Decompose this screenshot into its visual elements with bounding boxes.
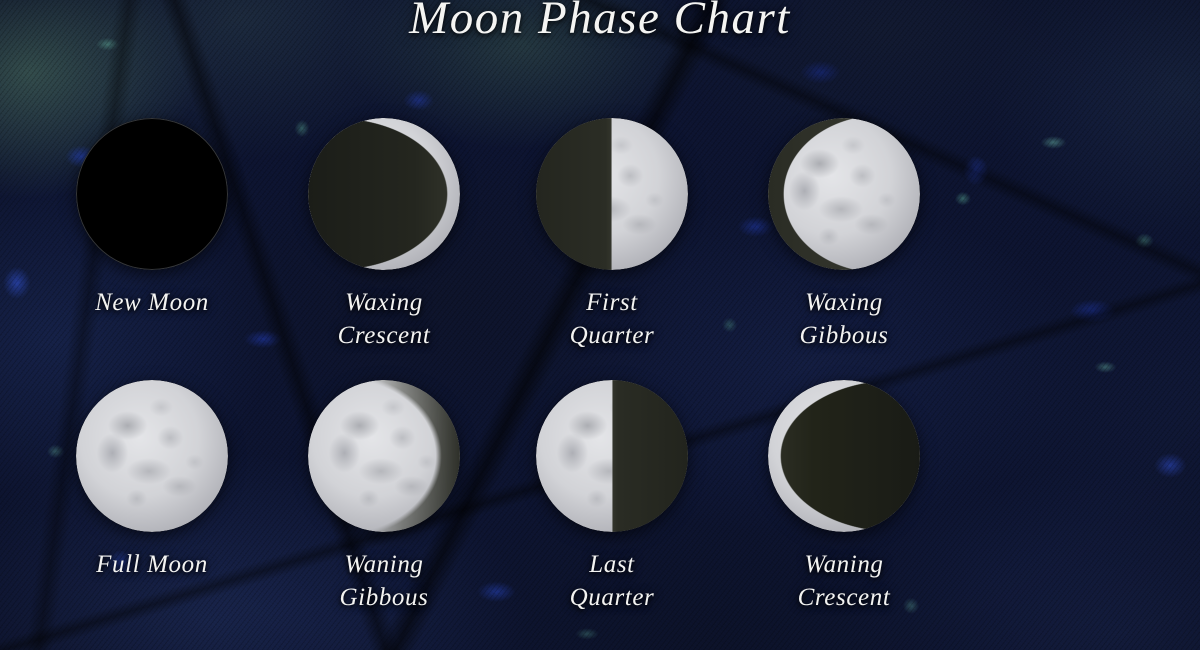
terminator-shadow <box>76 380 228 532</box>
moon-disc-waning-crescent <box>768 380 920 532</box>
moon-disc-new-moon <box>76 118 228 270</box>
moon-disc-waning-gibbous <box>308 380 460 532</box>
moon-disc-last-quarter <box>536 380 688 532</box>
phase-label-first-quarter: First Quarter <box>570 286 655 352</box>
terminator-shadow <box>308 118 460 270</box>
phase-cell-full-moon[interactable]: Full Moon <box>32 380 272 614</box>
moon-body <box>536 380 688 532</box>
terminator-shadow <box>536 380 688 532</box>
terminator-shadow <box>308 380 460 532</box>
moon-body <box>768 380 920 532</box>
terminator-shadow <box>768 380 920 532</box>
phase-cell-waxing-gibbous[interactable]: Waxing Gibbous <box>724 118 964 352</box>
moon-phase-chart: Moon Phase Chart New Moon <box>0 0 1200 650</box>
phase-cell-waxing-crescent[interactable]: Waxing Crescent <box>264 118 504 352</box>
phase-cell-waning-gibbous[interactable]: Waning Gibbous <box>264 380 504 614</box>
moon-disc-full-moon <box>76 380 228 532</box>
moon-body <box>308 118 460 270</box>
phase-label-waxing-crescent: Waxing Crescent <box>338 286 431 352</box>
moon-disc-waxing-gibbous <box>768 118 920 270</box>
terminator-shadow <box>76 118 228 270</box>
moon-body <box>768 118 920 270</box>
phase-grid: New Moon Waxing Crescent <box>0 118 1200 614</box>
page-title: Moon Phase Chart <box>0 0 1200 45</box>
moon-body <box>308 380 460 532</box>
moon-disc-first-quarter <box>536 118 688 270</box>
phase-label-waning-crescent: Waning Crescent <box>798 548 891 614</box>
phase-row-waxing: New Moon Waxing Crescent <box>0 118 1200 352</box>
phase-label-last-quarter: Last Quarter <box>570 548 655 614</box>
terminator-shadow <box>768 118 920 270</box>
phase-label-full-moon: Full Moon <box>96 548 208 581</box>
phase-cell-waning-crescent[interactable]: Waning Crescent <box>724 380 964 614</box>
phase-cell-first-quarter[interactable]: First Quarter <box>492 118 732 352</box>
phase-label-waning-gibbous: Waning Gibbous <box>340 548 429 614</box>
moon-body <box>536 118 688 270</box>
phase-cell-new-moon[interactable]: New Moon <box>32 118 272 352</box>
phase-label-waxing-gibbous: Waxing Gibbous <box>800 286 889 352</box>
moon-disc-waxing-crescent <box>308 118 460 270</box>
moon-body <box>76 380 228 532</box>
phase-label-new-moon: New Moon <box>95 286 209 319</box>
phase-row-waning: Full Moon Waning Gibbous <box>0 380 1200 614</box>
phase-cell-last-quarter[interactable]: Last Quarter <box>492 380 732 614</box>
moon-body <box>76 118 228 270</box>
terminator-shadow <box>536 118 688 270</box>
